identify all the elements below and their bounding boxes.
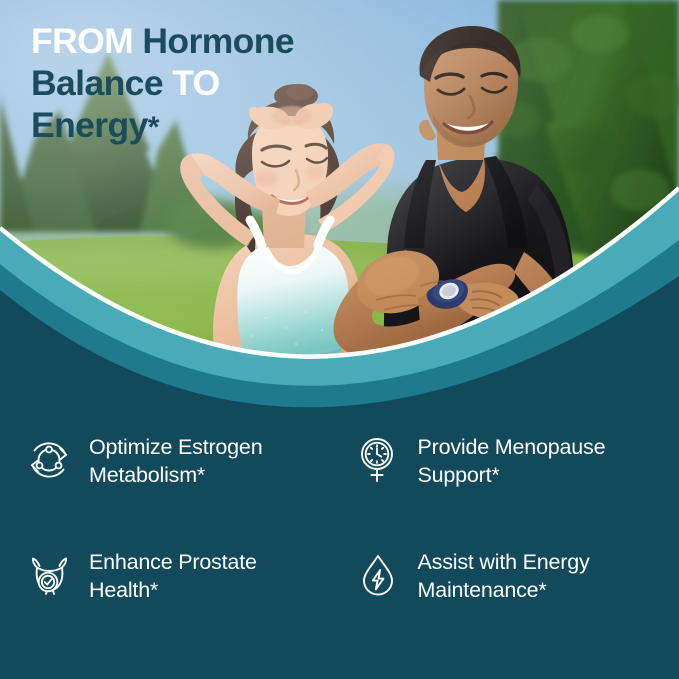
benefit-item: Assist with Energy Maintenance* [351,540,679,655]
headline-line-1: FROM Hormone [31,20,431,62]
benefit-item: Optimize Estrogen Metabolism* [22,425,351,540]
menopause-clock-icon [351,433,405,487]
metabolism-cycle-icon [22,433,76,487]
prostate-check-icon [22,548,76,602]
benefit-label: Assist with Energy Maintenance* [418,540,590,604]
headline-word-to: TO [172,63,219,103]
headline-word-energy: Energy [31,105,148,145]
benefits-grid: Optimize Estrogen Metabolism* [0,425,679,655]
product-benefits-poster: FROM Hormone Balance TO Energy* [0,0,679,679]
benefit-label: Enhance Prostate Health* [89,540,257,604]
headline-word-hormone: Hormone [142,21,294,61]
headline: FROM Hormone Balance TO Energy* [31,20,431,149]
headline-line-3: Energy* [31,104,431,149]
headline-asterisk: * [148,111,159,144]
benefit-item: Provide Menopause Support* [351,425,679,540]
headline-word-balance: Balance [31,63,163,103]
energy-droplet-bolt-icon [351,548,405,602]
headline-line-2: Balance TO [31,62,431,104]
benefit-item: Enhance Prostate Health* [22,540,351,655]
headline-word-from: FROM [31,21,133,61]
benefit-label: Optimize Estrogen Metabolism* [89,425,262,489]
benefit-label: Provide Menopause Support* [418,425,606,489]
